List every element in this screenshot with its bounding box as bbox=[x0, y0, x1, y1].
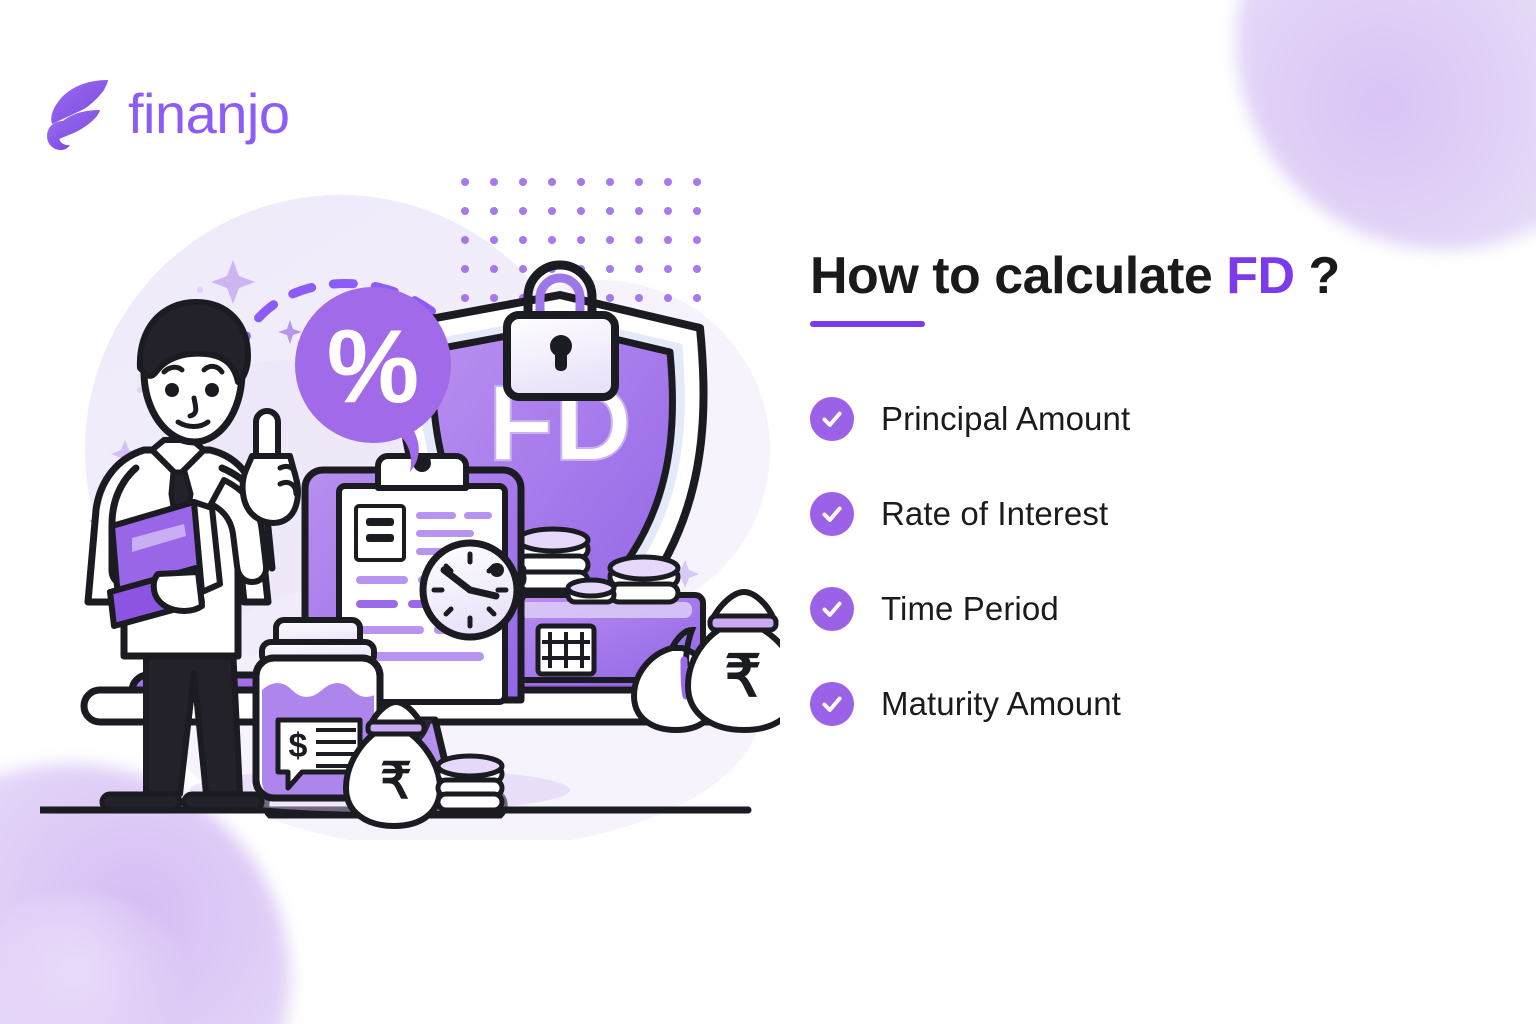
check-icon bbox=[810, 682, 854, 726]
blob-top-right bbox=[1236, 0, 1536, 250]
svg-text:₹: ₹ bbox=[380, 753, 412, 809]
list-item[interactable]: Rate of Interest bbox=[810, 492, 1470, 536]
list-item-label: Principal Amount bbox=[881, 400, 1130, 438]
check-icon bbox=[810, 397, 854, 441]
headline-suffix: ? bbox=[1309, 247, 1340, 305]
list-item-label: Time Period bbox=[881, 590, 1059, 628]
content-panel: How to calculate FD ? Principal Amount R… bbox=[810, 248, 1470, 726]
percent-symbol: % bbox=[327, 309, 419, 425]
list-item[interactable]: Principal Amount bbox=[810, 397, 1470, 441]
blob-bottom-left-secondary bbox=[0, 894, 190, 1024]
list-item-label: Maturity Amount bbox=[881, 685, 1121, 723]
brand-logo[interactable]: finanjo bbox=[42, 74, 290, 154]
rupee-symbol: ₹ bbox=[725, 644, 762, 709]
list-item[interactable]: Time Period bbox=[810, 587, 1470, 631]
page-title: How to calculate FD ? bbox=[810, 248, 1470, 305]
fd-illustration: FD bbox=[40, 150, 780, 840]
list-item[interactable]: Maturity Amount bbox=[810, 682, 1470, 726]
check-icon bbox=[810, 587, 854, 631]
check-icon bbox=[810, 492, 854, 536]
brand-name: finanjo bbox=[128, 86, 290, 142]
list-item-label: Rate of Interest bbox=[881, 495, 1108, 533]
headline-accent: FD bbox=[1226, 247, 1294, 305]
dollar-symbol: $ bbox=[289, 727, 308, 765]
headline-prefix: How to calculate bbox=[810, 247, 1212, 305]
checklist: Principal Amount Rate of Interest Time P… bbox=[810, 397, 1470, 726]
title-underline bbox=[810, 321, 925, 327]
leaf-feather-f-mark-icon bbox=[42, 74, 114, 154]
